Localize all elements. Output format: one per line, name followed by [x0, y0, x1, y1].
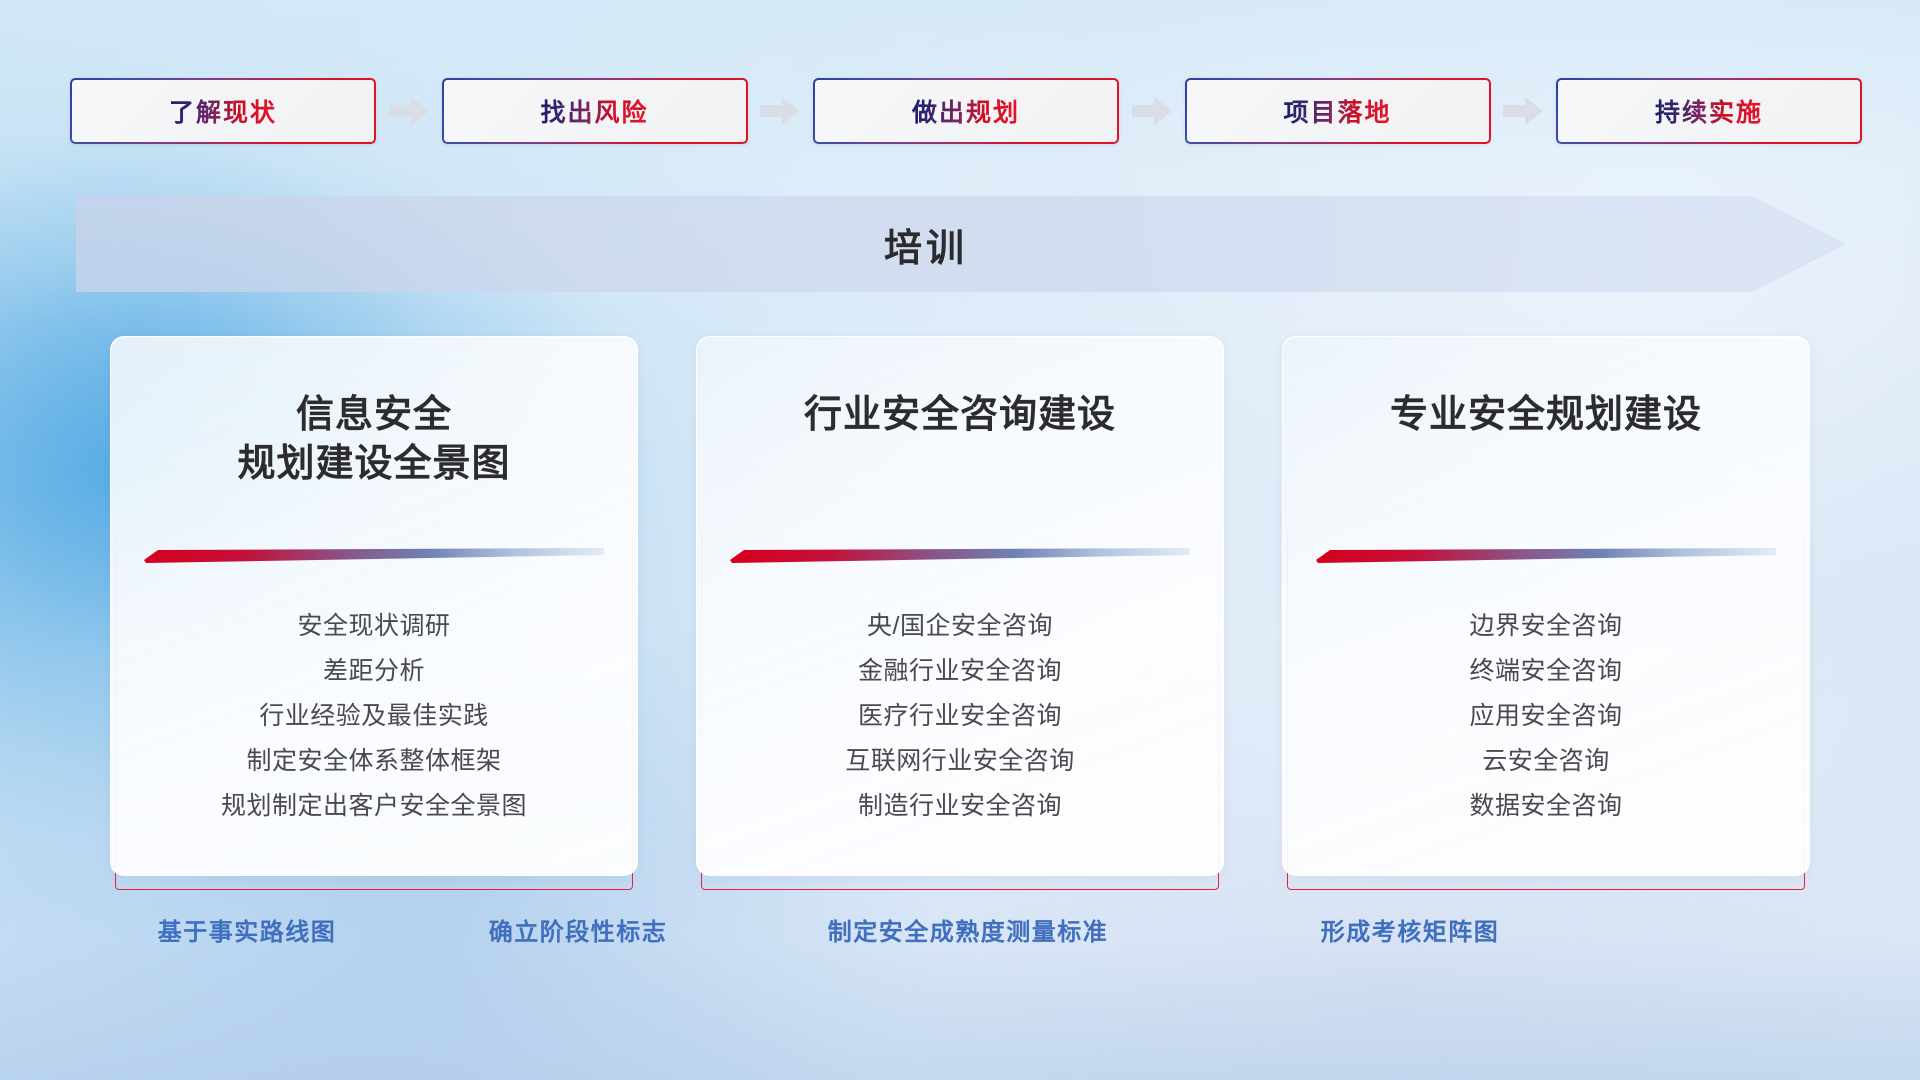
- step-arrow-1: [376, 78, 442, 144]
- step-box-1[interactable]: 了解现状: [70, 78, 376, 144]
- footer-label-2: 确立阶段性标志: [489, 912, 668, 947]
- card-title-3: 专业安全规划建设: [1368, 391, 1724, 440]
- card-wrap-3: 专业安全规划建设: [1282, 336, 1810, 876]
- card-3[interactable]: 专业安全规划建设: [1282, 336, 1810, 876]
- step-arrow-2: [748, 78, 814, 144]
- footer-label-4: 形成考核矩阵图: [1321, 912, 1500, 947]
- cards-row: 信息安全 规划建设全景图: [110, 336, 1810, 876]
- step-label-4: 项目落地: [1283, 93, 1391, 129]
- card-list-2: 央/国企安全咨询 金融行业安全咨询 医疗行业安全咨询 互联网行业安全咨询 制造行…: [697, 604, 1223, 829]
- card-title-1: 信息安全 规划建设全景图: [215, 391, 532, 488]
- list-item: 应用安全咨询: [1283, 694, 1809, 739]
- list-item: 规划制定出客户安全全景图: [111, 784, 637, 829]
- step-box-2[interactable]: 找出风险: [442, 78, 748, 144]
- list-item: 制定安全体系整体框架: [111, 739, 637, 784]
- card-1[interactable]: 信息安全 规划建设全景图: [110, 336, 638, 876]
- list-item: 终端安全咨询: [1283, 649, 1809, 694]
- step-box-3[interactable]: 做出规划: [813, 78, 1119, 144]
- card-accent-bar-1: [144, 546, 604, 564]
- card-wrap-2: 行业安全咨询建设: [696, 336, 1224, 876]
- footer-label-3: 制定安全成熟度测量标准: [828, 912, 1109, 947]
- list-item: 行业经验及最佳实践: [111, 694, 637, 739]
- card-list-1: 安全现状调研 差距分析 行业经验及最佳实践 制定安全体系整体框架 规划制定出客户…: [111, 604, 637, 829]
- list-item: 边界安全咨询: [1283, 604, 1809, 649]
- card-2[interactable]: 行业安全咨询建设: [696, 336, 1224, 876]
- list-item: 金融行业安全咨询: [697, 649, 1223, 694]
- list-item: 云安全咨询: [1283, 739, 1809, 784]
- list-item: 制造行业安全咨询: [697, 784, 1223, 829]
- list-item: 央/国企安全咨询: [697, 604, 1223, 649]
- training-banner-label: 培训: [76, 196, 1776, 292]
- footer-label-1: 基于事实路线图: [158, 912, 337, 947]
- card-accent-bar-2: [730, 546, 1190, 564]
- step-label-5: 持续实施: [1655, 93, 1763, 129]
- training-banner: 培训: [76, 196, 1846, 292]
- step-label-1: 了解现状: [169, 93, 277, 129]
- step-arrow-3: [1119, 78, 1185, 144]
- process-step-strip: 了解现状 找出风险 做出规划 项目落地 持续实施: [70, 78, 1862, 144]
- list-item: 安全现状调研: [111, 604, 637, 649]
- step-label-3: 做出规划: [912, 93, 1020, 129]
- footer-label-row: 基于事实路线图 确立阶段性标志 制定安全成熟度测量标准 形成考核矩阵图: [0, 912, 1920, 956]
- card-accent-wrap-2: [697, 546, 1223, 564]
- card-accent-bar-3: [1316, 546, 1776, 564]
- list-item: 医疗行业安全咨询: [697, 694, 1223, 739]
- step-arrow-4: [1491, 78, 1557, 144]
- step-label-2: 找出风险: [540, 93, 648, 129]
- step-box-4[interactable]: 项目落地: [1185, 78, 1491, 144]
- step-box-5[interactable]: 持续实施: [1556, 78, 1862, 144]
- card-accent-wrap-3: [1283, 546, 1809, 564]
- card-wrap-1: 信息安全 规划建设全景图: [110, 336, 638, 876]
- list-item: 互联网行业安全咨询: [697, 739, 1223, 784]
- list-item: 数据安全咨询: [1283, 784, 1809, 829]
- list-item: 差距分析: [111, 649, 637, 694]
- card-accent-wrap-1: [111, 546, 637, 564]
- card-list-3: 边界安全咨询 终端安全咨询 应用安全咨询 云安全咨询 数据安全咨询: [1283, 604, 1809, 829]
- card-title-2: 行业安全咨询建设: [782, 391, 1138, 440]
